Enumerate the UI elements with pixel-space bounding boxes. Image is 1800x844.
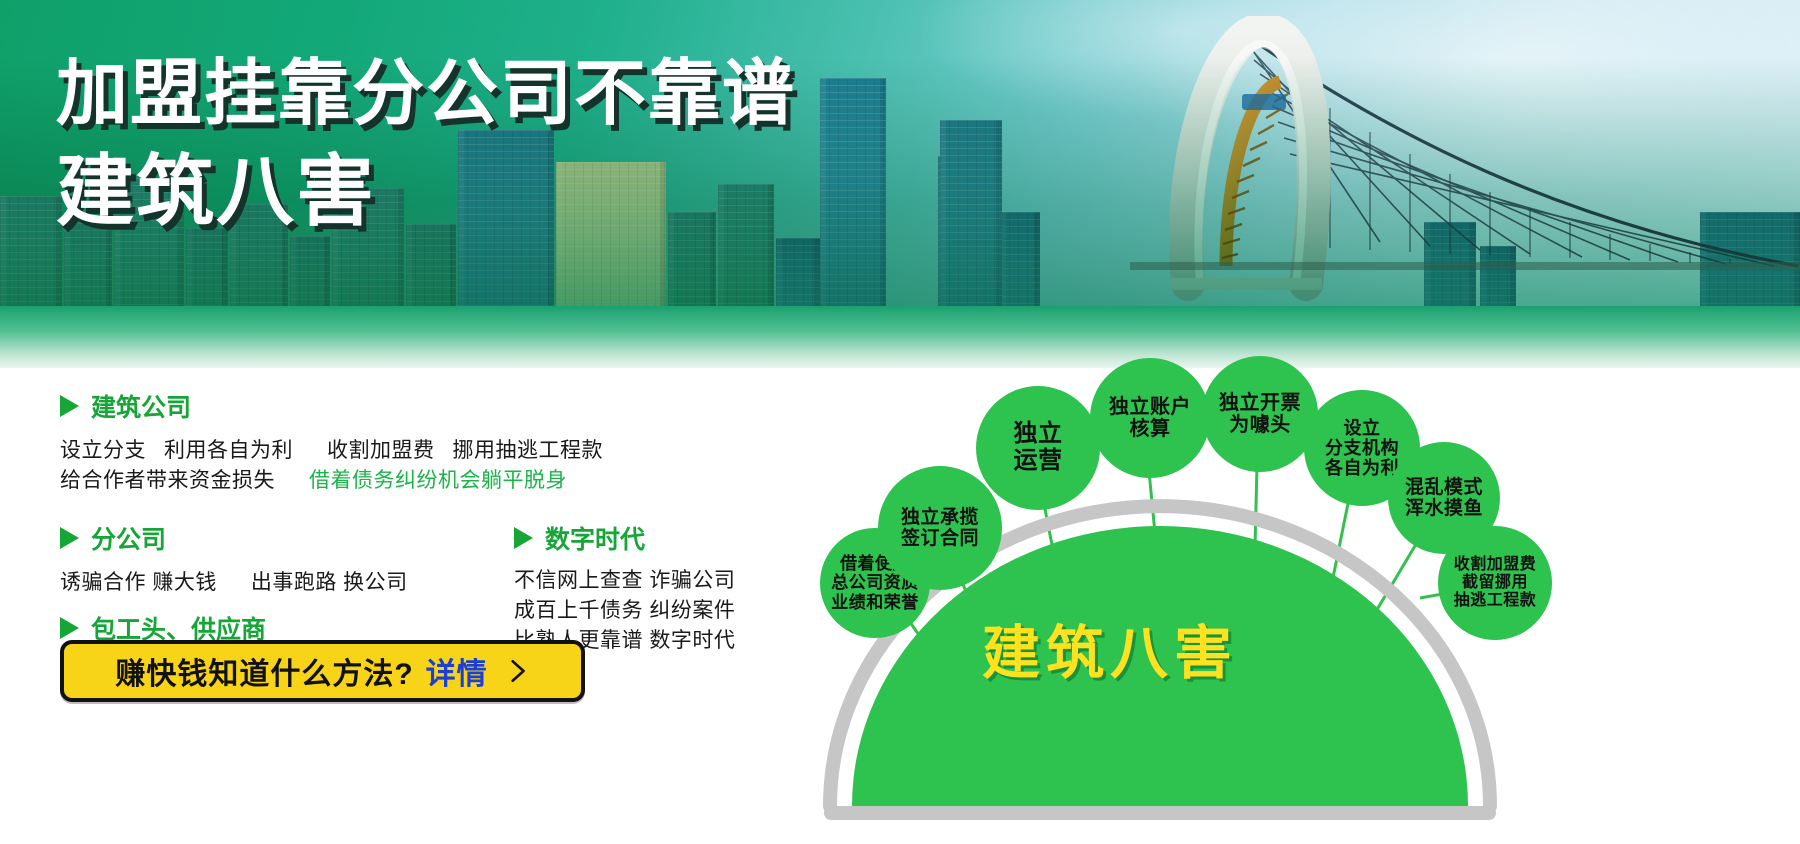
text-segment: 收割加盟费	[327, 439, 435, 462]
bubble-8[interactable]: 收割加盟费截留挪用抽逃工程款	[1438, 526, 1552, 640]
section-heading-branch-company: 分公司	[60, 520, 166, 556]
cta-label: 赚快钱知道什么方法?	[115, 649, 413, 693]
section-heading-label: 分公司	[91, 520, 166, 556]
left-content-column: 建筑公司 设立分支利用各自为利收割加盟费挪用抽逃工程款 给合作者带来资金损失借着…	[0, 368, 800, 844]
text-segment: 给合作者带来资金损失	[60, 469, 275, 492]
cta-button[interactable]: 赚快钱知道什么方法? 详情	[60, 640, 585, 702]
section-heading-construction-company: 建筑公司	[60, 388, 191, 424]
chevron-right-icon	[504, 658, 530, 684]
bubble-text: 独立账户核算	[1109, 396, 1191, 441]
hero-banner: 加盟挂靠分公司不靠谱 建筑八害	[0, 0, 1800, 368]
triangle-bullet-icon	[60, 395, 79, 417]
text-segment: 挪用抽逃工程款	[453, 439, 604, 462]
body-line: 成百上千债务 纠纷案件	[514, 594, 735, 624]
bubble-text: 独立运营	[1014, 421, 1063, 475]
text-segment-highlight: 借着债务纠纷机会躺平脱身	[309, 469, 567, 492]
triangle-bullet-icon	[60, 527, 79, 549]
section-heading-label: 数字时代	[545, 520, 645, 556]
body-line: 设立分支利用各自为利收割加盟费挪用抽逃工程款	[60, 434, 603, 464]
bubble-5[interactable]: 独立开票为噱头	[1202, 356, 1318, 472]
hero-title-line-2: 建筑八害	[56, 152, 796, 230]
dome-center-label: 建筑八害	[982, 606, 1238, 690]
bubble-text: 设立分支机构各自为利	[1325, 418, 1399, 478]
cta-detail-link[interactable]: 详情	[426, 649, 488, 693]
eight-harms-diagram: 建筑八害 借着使用总公司资质业绩和荣誉 独立承揽签订合同 独立运营 独立账户核算…	[800, 336, 1800, 844]
bubble-4[interactable]: 独立账户核算	[1090, 358, 1210, 478]
bubble-text: 混乱模式浑水摸鱼	[1405, 477, 1483, 520]
bubble-2[interactable]: 独立承揽签订合同	[878, 466, 1002, 590]
body-line: 诱骗合作 赚大钱出事跑路 换公司	[60, 566, 408, 596]
text-segment: 出事跑路 换公司	[251, 571, 408, 594]
hero-title-line-1: 加盟挂靠分公司不靠谱	[56, 58, 796, 130]
text-segment: 设立分支	[60, 439, 146, 462]
body-line: 给合作者带来资金损失借着债务纠纷机会躺平脱身	[60, 464, 567, 494]
bubble-3[interactable]: 独立运营	[976, 386, 1100, 510]
text-segment: 利用各自为利	[164, 439, 293, 462]
bubble-text: 独立开票为噱头	[1219, 392, 1301, 437]
triangle-bullet-icon	[514, 527, 533, 549]
text-segment: 诱骗合作 赚大钱	[60, 571, 217, 594]
page-title: 加盟挂靠分公司不靠谱 建筑八害	[56, 58, 796, 230]
section-heading-label: 建筑公司	[91, 388, 191, 424]
bubble-text: 独立承揽签订合同	[901, 507, 979, 550]
bridge-illustration	[1130, 16, 1800, 316]
section-heading-digital-era: 数字时代	[514, 520, 645, 556]
bubble-text: 收割加盟费截留挪用抽逃工程款	[1454, 556, 1537, 610]
body-line: 不信网上查查 诈骗公司	[514, 564, 735, 594]
triangle-bullet-icon	[60, 617, 79, 639]
